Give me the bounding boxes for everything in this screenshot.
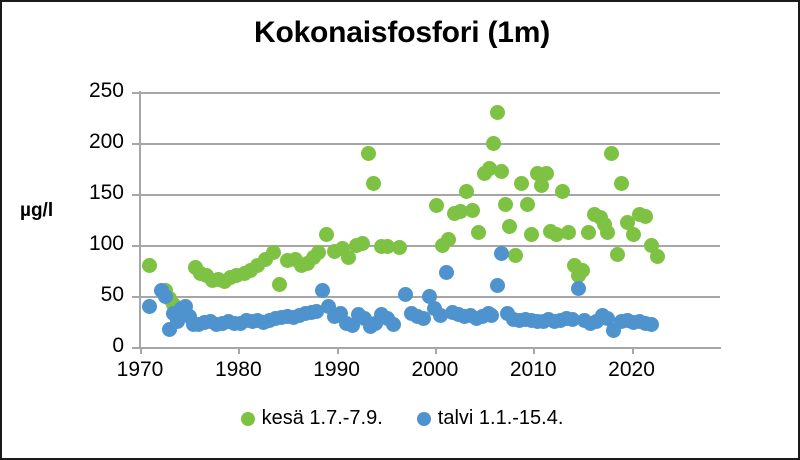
x-axis-tick-label: 2010 [488,358,578,382]
data-point [361,146,376,161]
data-point [490,105,505,120]
data-point [490,278,505,293]
x-axis-tick [238,347,240,354]
data-point [561,225,576,240]
data-point [600,225,615,240]
y-axis-title: µg/l [20,200,53,222]
legend-marker-icon [417,412,431,426]
x-axis-tick-label: 1990 [292,358,382,382]
chart-container: Kokonaisfosfori (1m) µg/l 05010015020025… [0,0,800,460]
data-point [158,289,173,304]
y-axis-tick [132,245,140,247]
y-axis-tick-label: 100 [64,232,124,256]
data-point [486,136,501,151]
data-point [471,225,486,240]
data-point [429,198,444,213]
data-point [319,227,334,242]
data-point [494,246,509,261]
legend-item[interactable]: talvi 1.1.-15.4. [417,407,564,430]
data-point [439,265,454,280]
data-point [398,287,413,302]
legend-marker-icon [241,412,255,426]
data-point [520,197,535,212]
x-axis-tick-label: 2020 [587,358,677,382]
x-axis-tick-label: 2000 [390,358,480,382]
data-point [498,197,513,212]
y-axis-tick [132,92,140,94]
data-point [502,219,517,234]
x-axis-tick [337,347,339,354]
data-point [614,176,629,191]
data-point [266,245,281,260]
data-point [441,232,456,247]
data-point [272,277,287,292]
data-point [355,236,370,251]
data-point [555,184,570,199]
data-point [638,209,653,224]
plot-area [140,92,720,347]
x-axis-tick [435,347,437,354]
data-point [539,166,554,181]
chart-legend: kesä 1.7.-7.9.talvi 1.1.-15.4. [2,407,800,430]
y-axis-tick-label: 0 [64,334,124,358]
x-axis-tick [632,347,634,354]
data-point [315,283,330,298]
data-point [571,281,586,296]
x-axis-tick-label: 1970 [95,358,185,382]
data-point [626,227,641,242]
data-point [459,184,474,199]
x-axis-tick-label: 1980 [193,358,283,382]
data-point [494,164,509,179]
y-axis-tick-label: 150 [64,181,124,205]
data-point [610,247,625,262]
data-point [366,176,381,191]
legend-label: talvi 1.1.-15.4. [438,407,564,430]
legend-label: kesä 1.7.-7.9. [262,407,383,430]
x-axis-tick [533,347,535,354]
y-axis-tick [132,296,140,298]
data-point [581,225,596,240]
y-axis-tick [132,194,140,196]
legend-item[interactable]: kesä 1.7.-7.9. [241,407,383,430]
data-point [142,299,157,314]
data-point [142,258,157,273]
y-axis-tick [132,347,140,349]
data-point [524,227,539,242]
data-point [392,240,407,255]
data-point [650,249,665,264]
data-point [508,248,523,263]
data-point [386,317,401,332]
data-point [465,203,480,218]
x-axis-tick [140,347,142,354]
data-point [311,245,326,260]
chart-title: Kokonaisfosfori (1m) [2,16,800,50]
data-point [575,263,590,278]
y-axis-tick [132,143,140,145]
y-axis-tick-label: 200 [64,130,124,154]
data-point [604,146,619,161]
y-axis-tick-label: 250 [64,79,124,103]
data-point [644,317,659,332]
y-axis-tick-label: 50 [64,283,124,307]
data-point [484,308,499,323]
data-point [514,176,529,191]
